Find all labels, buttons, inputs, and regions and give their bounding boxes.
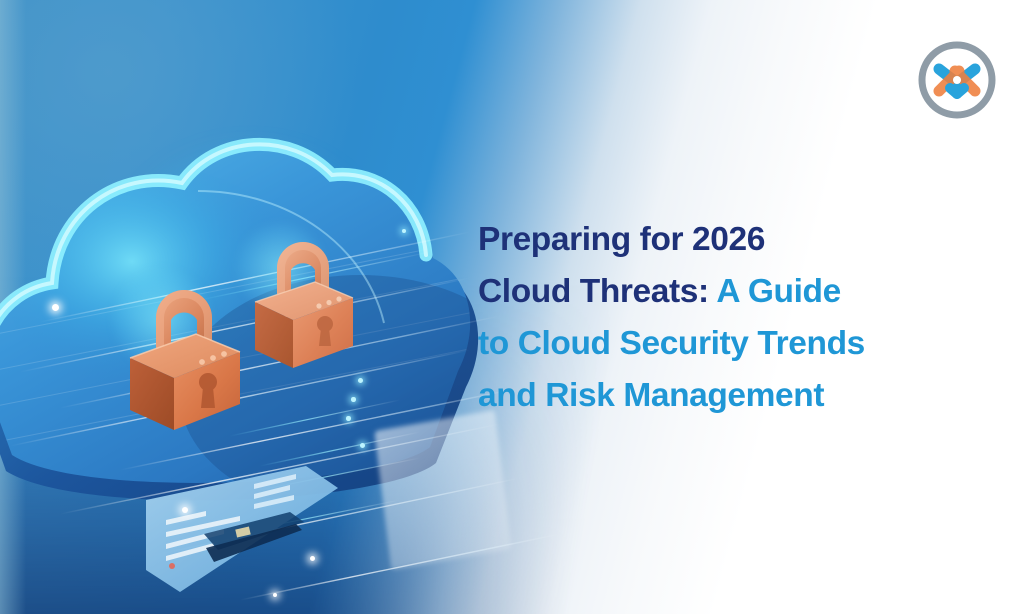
floating-ghost-card: [374, 410, 511, 570]
particle-dot: [346, 416, 351, 421]
particle-dot: [273, 593, 277, 597]
brand-x-mark-logo[interactable]: [913, 36, 1001, 124]
hero-banner: Preparing for 2026 Cloud Threats: A Guid…: [0, 0, 1024, 614]
headline-dark-1: Preparing for 2026: [478, 221, 765, 258]
particle-dot: [182, 507, 188, 513]
floating-ui-card: [144, 466, 340, 594]
headline-line-4: and Risk Management: [478, 370, 998, 422]
particle-dot: [402, 229, 406, 233]
headline-line-1: Preparing for 2026: [478, 214, 998, 266]
padlock-front: [120, 272, 248, 440]
particle-dot: [52, 304, 59, 311]
particle-dot: [310, 556, 315, 561]
headline-line-3: to Cloud Security Trends: [478, 318, 998, 370]
headline-dark-2: Cloud Threats:: [478, 273, 709, 310]
headline-accent-4: and Risk Management: [478, 377, 824, 414]
banner-headline: Preparing for 2026 Cloud Threats: A Guid…: [478, 214, 998, 422]
padlock-back: [243, 228, 361, 378]
headline-line-2: Cloud Threats: A Guide: [478, 266, 998, 318]
headline-accent-3: to Cloud Security Trends: [478, 325, 865, 362]
headline-accent-2: A Guide: [709, 273, 841, 310]
particle-dot: [360, 443, 365, 448]
particle-dot: [358, 378, 363, 383]
particle-dot: [351, 397, 356, 402]
